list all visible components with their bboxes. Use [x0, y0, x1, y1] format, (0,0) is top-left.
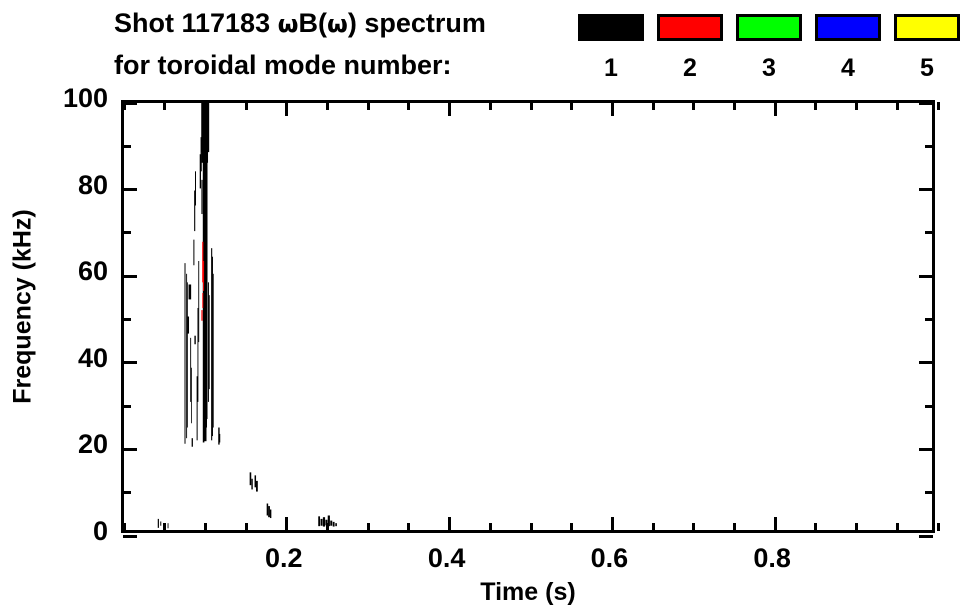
x-tick-minor-0.5 — [530, 102, 533, 110]
trace-segment-n1-3 — [185, 263, 186, 444]
legend-entry-n1: 1 — [578, 14, 644, 82]
trace-segment-n1-8 — [191, 368, 192, 424]
legend-swatch-n1 — [578, 14, 644, 41]
y-tick-major-20 — [123, 448, 137, 451]
x-axis-title: Time (s) — [121, 578, 935, 607]
x-tick-minor-0.45 — [489, 102, 492, 110]
legend-swatch-n5 — [894, 14, 960, 41]
x-tick-minor-0.75 — [733, 102, 736, 110]
y-tick-minor-10 — [123, 491, 131, 494]
x-tick-minor-0.9 — [855, 102, 858, 110]
y-tick-major-60 — [919, 275, 933, 278]
y-tick-minor-90 — [123, 145, 131, 148]
trace-segment-n1-43 — [321, 519, 323, 526]
y-tick-major-40 — [919, 361, 933, 364]
x-tick-minor-0.95 — [896, 523, 899, 531]
y-tick-minor-30 — [925, 405, 933, 408]
trace-segment-n1-28 — [212, 257, 213, 436]
trace-segment-n1-42 — [318, 516, 320, 526]
trace-segment-n1-36 — [251, 479, 252, 490]
x-tick-minor-0.95 — [896, 102, 899, 110]
x-tick-minor-0.9 — [855, 523, 858, 531]
trace-segment-n1-44 — [323, 517, 325, 526]
plot-frame — [121, 100, 935, 533]
figure-title-line-2: for toroidal mode number: — [114, 50, 452, 81]
trace-segment-n1-47 — [330, 521, 332, 526]
x-tick-minor-0.15 — [245, 102, 248, 110]
trace-group-n1 — [158, 103, 337, 528]
x-tick-minor-0.35 — [407, 523, 410, 531]
trace-segment-n2-2 — [202, 293, 203, 308]
y-tick-minor-50 — [925, 318, 933, 321]
x-tick-minor-0.35 — [407, 102, 410, 110]
trace-segment-n1-41 — [270, 510, 271, 519]
trace-segment-n1-24 — [201, 103, 209, 152]
legend-entry-n2: 2 — [657, 14, 723, 82]
x-tick-minor-1 — [937, 102, 940, 110]
trace-segment-n1-13 — [197, 308, 198, 402]
x-tick-minor-1 — [937, 523, 940, 531]
trace-segment-n1-6 — [189, 284, 192, 299]
x-tick-major-0.8 — [774, 517, 777, 531]
y-tick-major-80 — [919, 188, 933, 191]
x-tick-minor-0 — [123, 523, 126, 531]
y-axis-tick-labels: 020406080100 — [28, 100, 108, 533]
trace-segment-n1-49 — [335, 523, 337, 526]
omega-symbol-2: ω — [327, 10, 348, 38]
x-tick-minor-0.5 — [530, 523, 533, 531]
x-tick-label-0.4: 0.4 — [428, 543, 466, 573]
x-tick-major-0.4 — [448, 517, 451, 531]
title-shot-text: Shot 117183 — [114, 8, 278, 38]
y-tick-major-0 — [919, 535, 933, 538]
y-tick-major-0 — [123, 535, 137, 538]
x-tick-major-0.6 — [611, 517, 614, 531]
x-tick-major-0.6 — [611, 102, 614, 116]
y-tick-major-100 — [919, 102, 933, 105]
trace-segment-n1-2 — [168, 523, 169, 528]
y-tick-minor-90 — [925, 145, 933, 148]
trace-segment-n1-38 — [256, 481, 258, 492]
legend-label-n2: 2 — [657, 55, 723, 82]
legend-swatch-n3 — [736, 14, 802, 41]
y-tick-minor-50 — [123, 318, 131, 321]
x-tick-minor-0.1 — [204, 102, 207, 110]
trace-segment-n1-33 — [187, 317, 189, 334]
legend-label-n3: 3 — [736, 55, 802, 82]
trace-segment-n1-11 — [195, 171, 196, 205]
legend-swatch-n4 — [815, 14, 881, 41]
trace-segment-n1-32 — [192, 438, 193, 447]
trace-segment-n1-5 — [187, 282, 188, 427]
trace-segment-n1-31 — [219, 434, 220, 443]
legend-entry-n3: 3 — [736, 14, 802, 82]
omega-symbol-1: ω — [278, 10, 299, 38]
trace-segment-n1-40 — [268, 506, 270, 517]
legend-label-n5: 5 — [894, 55, 960, 82]
y-tick-major-80 — [123, 188, 137, 191]
x-tick-minor-0 — [123, 102, 126, 110]
trace-segment-n1-26 — [209, 295, 210, 389]
legend-entry-n5: 5 — [894, 14, 960, 82]
legend-label-n4: 4 — [815, 55, 881, 82]
x-tick-minor-0.65 — [652, 523, 655, 531]
x-tick-minor-0.15 — [245, 523, 248, 531]
x-tick-minor-0.25 — [326, 102, 329, 110]
trace-segment-n1-25 — [208, 282, 209, 402]
trace-segment-n2-3 — [201, 310, 202, 321]
y-tick-label-100: 100 — [28, 85, 108, 112]
y-tick-minor-10 — [925, 491, 933, 494]
y-tick-minor-70 — [925, 231, 933, 234]
y-tick-label-20: 20 — [28, 431, 108, 458]
x-tick-minor-0.1 — [204, 523, 207, 531]
y-tick-major-40 — [123, 361, 137, 364]
mode-number-legend: 12345 — [578, 14, 960, 90]
trace-segment-n1-9 — [193, 240, 194, 266]
y-tick-minor-30 — [123, 405, 131, 408]
x-tick-minor-0.75 — [733, 523, 736, 531]
x-tick-label-0.8: 0.8 — [753, 543, 791, 573]
trace-segment-n1-17 — [201, 180, 202, 214]
x-tick-label-0.6: 0.6 — [591, 543, 629, 573]
trace-segment-n1-14 — [198, 261, 199, 342]
x-tick-minor-0.55 — [570, 102, 573, 110]
title-b-text: B( — [298, 8, 327, 38]
trace-segment-n1-0 — [158, 519, 159, 528]
trace-segment-n1-35 — [250, 472, 252, 485]
x-tick-minor-0.85 — [814, 102, 817, 110]
x-tick-minor-0.85 — [814, 523, 817, 531]
y-tick-minor-70 — [123, 231, 131, 234]
x-tick-label-0.2: 0.2 — [265, 543, 303, 573]
x-tick-minor-0.3 — [367, 523, 370, 531]
trace-segment-n1-29 — [213, 274, 214, 428]
legend-label-n1: 1 — [578, 55, 644, 82]
trace-segment-n1-34 — [194, 336, 195, 345]
x-tick-major-0.8 — [774, 102, 777, 116]
x-axis-tick-labels: 0.20.40.60.8 — [121, 543, 935, 579]
y-tick-label-0: 0 — [28, 518, 108, 545]
spectrogram-figure: Shot 117183 ωB(ω) spectrum for toroidal … — [0, 0, 963, 615]
trace-segment-n1-4 — [186, 274, 187, 438]
x-tick-major-0.4 — [448, 102, 451, 116]
trace-segment-n1-12 — [197, 376, 198, 440]
y-axis-title: Frequency (kHz) — [9, 187, 38, 427]
x-tick-minor-0.05 — [163, 102, 166, 110]
trace-segment-n1-48 — [333, 522, 335, 527]
x-tick-minor-0.45 — [489, 523, 492, 531]
spectrogram-data-canvas — [124, 103, 932, 530]
figure-title-line-1: Shot 117183 ωB(ω) spectrum — [114, 8, 486, 39]
legend-swatch-n2 — [657, 14, 723, 41]
legend-entry-n4: 4 — [815, 14, 881, 82]
trace-segment-n1-39 — [267, 504, 268, 516]
trace-segment-n1-7 — [190, 338, 191, 402]
trace-segment-n1-37 — [255, 475, 256, 487]
x-tick-minor-0.7 — [692, 523, 695, 531]
x-tick-minor-0.05 — [163, 523, 166, 531]
trace-segment-n1-1 — [160, 521, 161, 525]
y-tick-label-60: 60 — [28, 258, 108, 285]
trace-segment-n2-1 — [203, 261, 204, 291]
y-tick-major-60 — [123, 275, 137, 278]
x-tick-major-0.2 — [285, 517, 288, 531]
x-tick-minor-0.3 — [367, 102, 370, 110]
x-tick-minor-0.55 — [570, 523, 573, 531]
x-tick-minor-0.7 — [692, 102, 695, 110]
x-tick-minor-0.25 — [326, 523, 329, 531]
y-tick-major-20 — [919, 448, 933, 451]
x-tick-minor-0.65 — [652, 102, 655, 110]
title-spectrum-text: ) spectrum — [348, 8, 486, 38]
y-tick-label-80: 80 — [28, 172, 108, 199]
y-tick-label-40: 40 — [28, 345, 108, 372]
x-tick-major-0.2 — [285, 102, 288, 116]
